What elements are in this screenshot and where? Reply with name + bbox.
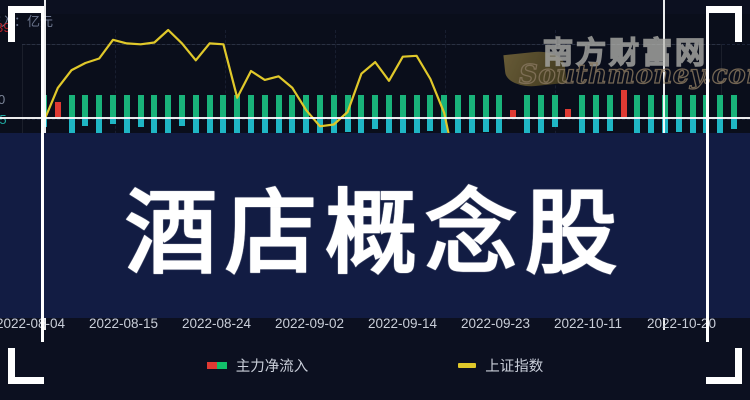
- legend-label: 上证指数: [485, 355, 543, 376]
- x-axis-label: 2022-10-11: [554, 316, 622, 331]
- frame-corner-bottom-right: [706, 348, 742, 384]
- title-overlay-band: 酒店概念股: [0, 133, 750, 318]
- legend-item-shanghai-index[interactable]: 上证指数: [458, 355, 543, 376]
- crosshair-horizontal[interactable]: [0, 117, 750, 119]
- legend-item-main-net-inflow[interactable]: 主力净流入: [207, 355, 309, 376]
- page-title: 酒店概念股: [0, 133, 750, 318]
- legend-label: 主力净流入: [236, 355, 309, 376]
- frame-corner-bottom-left: [8, 348, 44, 384]
- x-axis-label: 2022-08-04: [0, 316, 65, 331]
- x-axis: 2022-08-04 2022-08-15 2022-08-24 2022-09…: [0, 316, 750, 340]
- x-axis-label: 2022-08-24: [182, 316, 251, 331]
- chart-screenshot: 流入：亿元 39 0 25 644 62: [0, 0, 750, 400]
- frame-rail-right: [706, 6, 709, 342]
- legend-line-icon: [458, 363, 476, 368]
- frame-corner-top-right: [706, 6, 742, 42]
- x-axis-label: 2022-09-02: [275, 316, 344, 331]
- chart-legend: 主力净流入 上证指数: [0, 352, 750, 378]
- stock-chart: 流入：亿元 39 0 25 644 62: [0, 0, 750, 400]
- frame-rail-left: [41, 6, 44, 342]
- x-axis-label: 2022-08-15: [89, 316, 158, 331]
- x-axis-label: 2022-09-23: [461, 316, 530, 331]
- legend-swatch-icon: [207, 362, 227, 369]
- frame-corner-top-left: [8, 6, 44, 42]
- x-axis-label: 2022-09-14: [368, 316, 437, 331]
